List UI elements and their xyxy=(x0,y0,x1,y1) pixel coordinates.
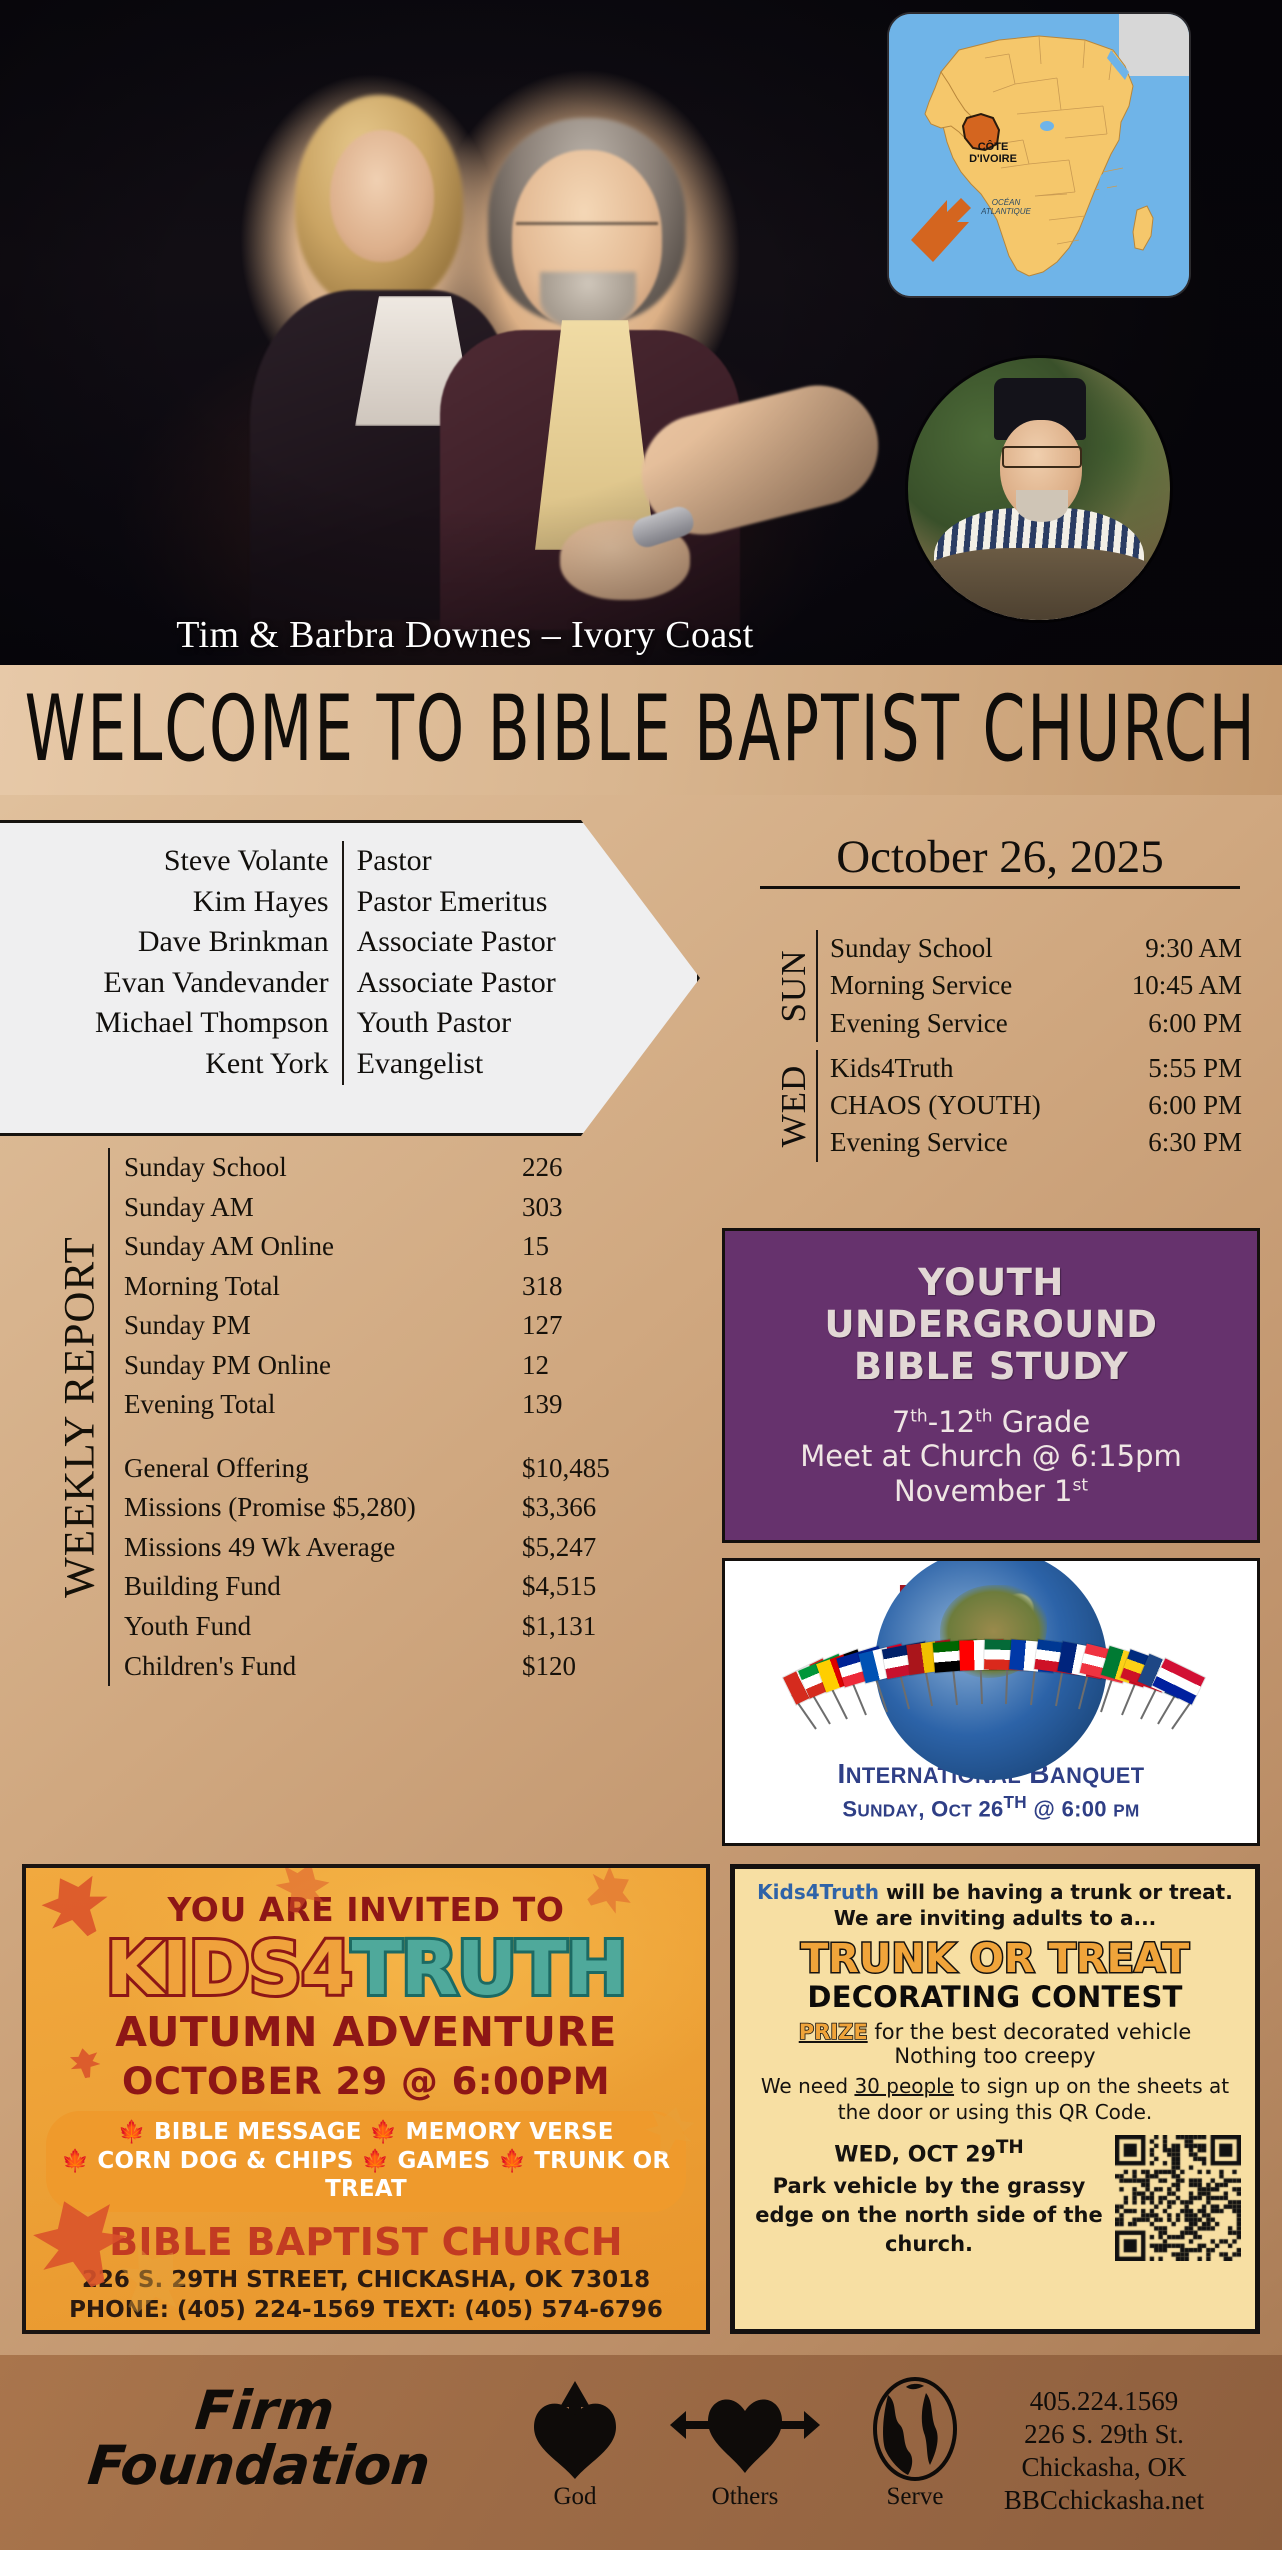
god-pillar: God xyxy=(500,2373,650,2511)
service-time: 6:00 PM xyxy=(1148,1005,1242,1042)
tot-date: WED, OCT 29TH xyxy=(749,2137,1109,2167)
firm-foundation-logo: Firm Foundation xyxy=(46,2383,478,2493)
service-time: 6:30 PM xyxy=(1148,1124,1242,1161)
firm-foundation-line2: Foundation xyxy=(46,2438,472,2493)
report-value: 226 xyxy=(522,1148,672,1188)
k4t-features-row1: 🍁 BIBLE MESSAGE 🍁 MEMORY VERSE xyxy=(52,2118,680,2147)
attendance-row: Evening Total139 xyxy=(124,1385,672,1425)
report-value: 12 xyxy=(522,1346,672,1386)
service-row: Sunday School9:30 AM xyxy=(830,930,1242,967)
god-heart-arrow-icon xyxy=(500,2373,650,2481)
report-label: Sunday PM xyxy=(124,1306,522,1346)
offering-row: Children's Fund$120 xyxy=(124,1647,672,1687)
youth-underground-line3: BIBLE STUDY xyxy=(824,1346,1157,1388)
service-day-text: WED xyxy=(774,1064,814,1147)
attendance-row: Sunday School226 xyxy=(124,1148,672,1188)
staff-name: Michael Thompson xyxy=(95,1003,343,1044)
portrait-detail-glasses xyxy=(1002,446,1082,468)
k4t-event-datetime: OCTOBER 29 @ 6:00PM xyxy=(26,2060,706,2103)
banquet-when: SUNDAY, OCT 26TH @ 6:00 PM xyxy=(725,1792,1257,1822)
youth-underground-details: 7th-12th Grade Meet at Church @ 6:15pm N… xyxy=(800,1405,1182,1509)
report-label: Sunday AM Online xyxy=(124,1227,522,1267)
youth-underground-date: November 1st xyxy=(800,1474,1182,1509)
contact-line: 226 S. 29th St. xyxy=(954,2418,1254,2451)
tot-lower-text: WED, OCT 29TH Park vehicle by the grassy… xyxy=(749,2133,1109,2261)
staff-row: Steve VolantePastor xyxy=(95,841,556,882)
service-row: Kids4Truth5:55 PM xyxy=(830,1050,1242,1087)
service-row: CHAOS (YOUTH)6:00 PM xyxy=(830,1087,1242,1124)
tot-brand: Kids4Truth xyxy=(757,1880,879,1904)
banquet-flags-globe-graphic xyxy=(725,1616,1257,1754)
offering-row: Missions (Promise $5,280)$3,366 xyxy=(124,1488,672,1528)
staff-role: Evangelist xyxy=(343,1044,556,1085)
footer-bar: Firm Foundation God Others xyxy=(0,2355,1282,2550)
leaf-bullet-icon: 🍁 xyxy=(62,2149,89,2174)
contact-line: Chickasha, OK xyxy=(954,2451,1254,2484)
report-label: Evening Total xyxy=(124,1385,522,1425)
service-row: Evening Service6:00 PM xyxy=(830,1005,1242,1042)
weekly-report-label: WEEKLY REPORT xyxy=(52,1148,108,1686)
k4t-church-name: BIBLE BAPTIST CHURCH xyxy=(26,2220,706,2264)
service-title: Evening Service xyxy=(830,1124,1008,1161)
contact-line: BBCchickasha.net xyxy=(954,2484,1254,2517)
tot-parking-instructions: Park vehicle by the grassy edge on the n… xyxy=(749,2172,1109,2259)
attendance-row: Sunday PM Online12 xyxy=(124,1346,672,1386)
k4t-phone: PHONE: (405) 224-1569 TEXT: (405) 574-67… xyxy=(26,2296,706,2326)
report-label: Sunday AM xyxy=(124,1188,522,1228)
weekly-report: WEEKLY REPORT Sunday School226Sunday AM3… xyxy=(52,1148,672,1686)
report-value: 318 xyxy=(522,1267,672,1307)
tot-prize-line: PRIZE for the best decorated vehicle xyxy=(749,2020,1241,2044)
tot-signup-note: We need 30 people to sign up on the shee… xyxy=(749,2073,1241,2125)
staff-role: Associate Pastor xyxy=(343,963,556,1004)
service-row: Evening Service6:30 PM xyxy=(830,1124,1242,1161)
portrait-detail-shoulders xyxy=(914,548,1164,620)
youth-underground-line1: YOUTH xyxy=(824,1262,1157,1304)
others-pillar: Others xyxy=(670,2373,820,2511)
report-value: $10,485 xyxy=(522,1449,672,1489)
tot-lower-row: WED, OCT 29TH Park vehicle by the grassy… xyxy=(749,2133,1241,2261)
offering-row: Building Fund$4,515 xyxy=(124,1567,672,1607)
staff-role: Associate Pastor xyxy=(343,922,556,963)
staff-role: Pastor Emeritus xyxy=(343,882,556,923)
god-label: God xyxy=(500,2483,650,2511)
kids4truth-flyer: YOU ARE INVITED TO KIDS4TRUTH AUTUMN ADV… xyxy=(22,1864,710,2334)
leaf-bullet-icon: 🍁 xyxy=(370,2120,397,2145)
service-title: Morning Service xyxy=(830,967,1012,1004)
leaf-bullet-icon: 🍁 xyxy=(362,2149,389,2174)
others-label: Others xyxy=(670,2483,820,2511)
hero-caption: Tim & Barbra Downes – Ivory Coast xyxy=(0,613,930,657)
youth-underground-grade: 7th-12th Grade xyxy=(800,1405,1182,1440)
tot-prize-word: PRIZE xyxy=(799,2020,868,2044)
hero-photo-band: CÔTED'IVOIRE OCÉANATLANTIQUE Tim & Barbr… xyxy=(0,0,1282,665)
staff-row: Dave BrinkmanAssociate Pastor xyxy=(95,922,556,963)
report-value: 15 xyxy=(522,1227,672,1267)
youth-underground-line2: UNDERGROUND xyxy=(824,1304,1157,1346)
service-items: Sunday School9:30 AMMorning Service10:45… xyxy=(816,930,1242,1042)
report-label: Children's Fund xyxy=(124,1647,522,1687)
international-banquet-card: Bring a Dish INTERNATIONAL BANQUET SUNDA… xyxy=(722,1558,1260,1846)
missionary-portrait-circle xyxy=(908,358,1170,620)
k4t-logo-kids: KIDS4 xyxy=(105,1926,351,2012)
portrait-detail-beard xyxy=(1016,490,1068,522)
staff-name: Kim Hayes xyxy=(95,882,343,923)
k4t-logo-truth: TRUTH xyxy=(352,1926,627,2012)
service-time: 5:55 PM xyxy=(1148,1050,1242,1087)
service-schedule: SUNSunday School9:30 AMMorning Service10… xyxy=(772,930,1242,1170)
tot-people-count: 30 people xyxy=(854,2074,954,2098)
youth-underground-card: YOUTH UNDERGROUND BIBLE STUDY 7th-12th G… xyxy=(722,1228,1260,1543)
africa-map-inset: CÔTED'IVOIRE OCÉANATLANTIQUE xyxy=(889,14,1189,296)
leaf-bullet-icon: 🍁 xyxy=(499,2149,526,2174)
report-label: Missions (Promise $5,280) xyxy=(124,1488,522,1528)
firm-foundation-line1: Firm xyxy=(52,2383,478,2438)
staff-name: Evan Vandevander xyxy=(95,963,343,1004)
tot-title: TRUNK OR TREAT xyxy=(749,1936,1241,1982)
k4t-features-pill: 🍁 BIBLE MESSAGE 🍁 MEMORY VERSE 🍁 CORN DO… xyxy=(46,2111,686,2212)
weekly-report-rows: Sunday School226Sunday AM303Sunday AM On… xyxy=(108,1148,672,1686)
attendance-row: Sunday AM Online15 xyxy=(124,1227,672,1267)
weekly-report-label-text: WEEKLY REPORT xyxy=(56,1236,105,1598)
service-items: Kids4Truth5:55 PMCHAOS (YOUTH)6:00 PMEve… xyxy=(816,1050,1242,1162)
k4t-logo: KIDS4TRUTH xyxy=(26,1932,706,2006)
staff-table: Steve VolantePastorKim HayesPastor Emeri… xyxy=(95,841,556,1085)
youth-underground-meet: Meet at Church @ 6:15pm xyxy=(800,1439,1182,1474)
service-day-label: SUN xyxy=(772,930,816,1042)
staff-name: Steve Volante xyxy=(95,841,343,882)
service-title: Kids4Truth xyxy=(830,1050,954,1087)
footer-contact-info: 405.224.1569226 S. 29th St.Chickasha, OK… xyxy=(954,2385,1254,2517)
staff-role: Pastor xyxy=(343,841,556,882)
leaf-bullet-icon: 🍁 xyxy=(118,2120,145,2145)
map-label-cote-divoire: CÔTED'IVOIRE xyxy=(945,142,1041,165)
service-day-label: WED xyxy=(772,1050,816,1162)
youth-underground-heading: YOUTH UNDERGROUND BIBLE STUDY xyxy=(824,1262,1157,1389)
staff-row: Michael ThompsonYouth Pastor xyxy=(95,1003,556,1044)
staff-row: Kim HayesPastor Emeritus xyxy=(95,882,556,923)
service-day-text: SUN xyxy=(774,949,814,1022)
tot-intro: Kids4Truth will be having a trunk or tre… xyxy=(749,1879,1241,1932)
qr-code-icon[interactable] xyxy=(1115,2135,1241,2261)
service-row: Morning Service10:45 AM xyxy=(830,967,1242,1004)
report-value: 139 xyxy=(522,1385,672,1425)
report-spacer xyxy=(124,1425,672,1449)
report-value: $1,131 xyxy=(522,1607,672,1647)
welcome-title: WELCOME TO BIBLE BAPTIST CHURCH xyxy=(25,677,1257,782)
report-value: $5,247 xyxy=(522,1528,672,1568)
staff-row: Kent YorkEvangelist xyxy=(95,1044,556,1085)
offering-row: General Offering$10,485 xyxy=(124,1449,672,1489)
service-time: 10:45 AM xyxy=(1132,967,1242,1004)
others-heart-arrows-icon xyxy=(670,2373,820,2481)
offering-row: Youth Fund$1,131 xyxy=(124,1607,672,1647)
contact-line: 405.224.1569 xyxy=(954,2385,1254,2418)
bulletin-date: October 26, 2025 xyxy=(760,832,1240,889)
report-label: Sunday School xyxy=(124,1148,522,1188)
service-time: 6:00 PM xyxy=(1148,1087,1242,1124)
offering-row: Missions 49 Wk Average$5,247 xyxy=(124,1528,672,1568)
service-group: WEDKids4Truth5:55 PMCHAOS (YOUTH)6:00 PM… xyxy=(772,1050,1242,1162)
report-label: Morning Total xyxy=(124,1267,522,1307)
report-label: Sunday PM Online xyxy=(124,1346,522,1386)
report-label: Building Fund xyxy=(124,1567,522,1607)
report-value: $120 xyxy=(522,1647,672,1687)
report-label: Youth Fund xyxy=(124,1607,522,1647)
attendance-row: Sunday AM303 xyxy=(124,1188,672,1228)
staff-row: Evan VandevanderAssociate Pastor xyxy=(95,963,556,1004)
attendance-row: Sunday PM127 xyxy=(124,1306,672,1346)
k4t-features-row2: 🍁 CORN DOG & CHIPS 🍁 GAMES 🍁 TRUNK OR TR… xyxy=(52,2147,680,2204)
staff-name: Kent York xyxy=(95,1044,343,1085)
report-value: 303 xyxy=(522,1188,672,1228)
welcome-banner: WELCOME TO BIBLE BAPTIST CHURCH xyxy=(0,665,1282,795)
staff-name: Dave Brinkman xyxy=(95,922,343,963)
service-title: Evening Service xyxy=(830,1005,1008,1042)
service-title: Sunday School xyxy=(830,930,993,967)
service-time: 9:30 AM xyxy=(1145,930,1242,967)
tot-subtitle: DECORATING CONTEST xyxy=(749,1980,1241,2014)
attendance-row: Morning Total318 xyxy=(124,1267,672,1307)
service-group: SUNSunday School9:30 AMMorning Service10… xyxy=(772,930,1242,1042)
map-label-atlantic-ocean: OCÉANATLANTIQUE xyxy=(951,198,1061,216)
trunk-or-treat-card: Kids4Truth will be having a trunk or tre… xyxy=(730,1864,1260,2334)
report-label: Missions 49 Wk Average xyxy=(124,1528,522,1568)
report-value: $4,515 xyxy=(522,1567,672,1607)
report-value: $3,366 xyxy=(522,1488,672,1528)
tot-creepy-note: Nothing too creepy xyxy=(749,2044,1241,2068)
service-title: CHAOS (YOUTH) xyxy=(830,1087,1041,1124)
report-value: 127 xyxy=(522,1306,672,1346)
report-label: General Offering xyxy=(124,1449,522,1489)
k4t-event-name: AUTUMN ADVENTURE xyxy=(26,2008,706,2056)
staff-role: Youth Pastor xyxy=(343,1003,556,1044)
staff-directory-plaque: Steve VolantePastorKim HayesPastor Emeri… xyxy=(0,820,700,1136)
